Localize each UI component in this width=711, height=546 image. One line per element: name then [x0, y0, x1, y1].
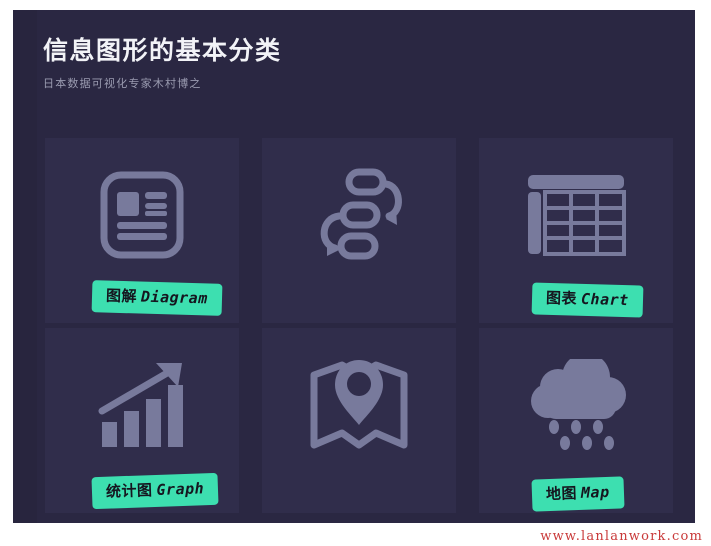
category-label-cn: 图解 — [106, 288, 137, 306]
category-label-en: Diagram — [141, 288, 208, 308]
map-pin-icon — [262, 346, 456, 464]
page-subtitle: 日本数据可视化专家木村博之 — [43, 75, 282, 91]
category-label-cn: 统计图 — [106, 482, 153, 501]
category-label-en: Graph — [156, 479, 204, 499]
bar-chart-arrow-icon — [45, 346, 239, 464]
category-card-chart[interactable]: 图表Chart — [262, 138, 456, 323]
category-label-en: Map — [581, 483, 610, 502]
category-label-cn: 地图 — [546, 485, 578, 503]
category-label-chart[interactable]: 图表Chart — [532, 282, 644, 317]
category-grid: 图解Diagram 图表Chart — [45, 138, 673, 513]
category-label-diagram[interactable]: 图解Diagram — [92, 280, 223, 316]
category-label-graph[interactable]: 统计图Graph — [91, 473, 218, 510]
page-title: 信息图形的基本分类 — [43, 38, 282, 66]
diagram-layout-icon — [45, 156, 239, 274]
category-card-map[interactable]: 地图Map — [262, 328, 456, 513]
category-card-diagram[interactable]: 图解Diagram — [45, 138, 239, 323]
slide-canvas: 信息图形的基本分类 日本数据可视化专家木村博之 — [13, 10, 695, 523]
category-label-en: Chart — [581, 290, 629, 309]
slide-header: 信息图形的基本分类 日本数据可视化专家木村博之 — [43, 38, 282, 91]
category-card-graph[interactable]: 统计图Graph — [45, 328, 239, 513]
screenshot-root: 信息图形的基本分类 日本数据可视化专家木村博之 — [0, 0, 711, 546]
category-label-cn: 图表 — [546, 290, 577, 308]
category-label-map[interactable]: 地图Map — [531, 476, 624, 511]
rain-cloud-icon — [479, 346, 673, 464]
flowchart-icon — [262, 156, 456, 274]
watermark: www.lanlanwork.com — [540, 529, 703, 544]
table-grid-icon — [479, 156, 673, 274]
